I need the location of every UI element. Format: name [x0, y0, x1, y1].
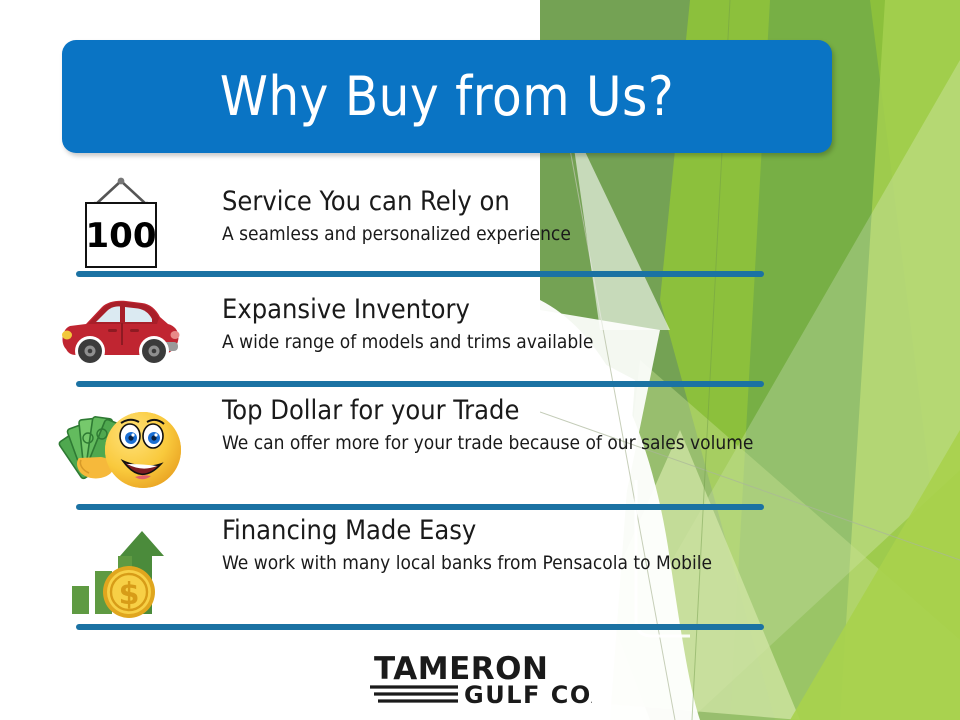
logo-secondary-text: GULF COAST — [464, 681, 592, 709]
page-title: Why Buy from Us? — [220, 65, 674, 128]
feature-subtext: We work with many local banks from Pensa… — [222, 552, 762, 574]
hanging-sign-100-icon: 100 — [46, 175, 196, 271]
feature-heading: Service You can Rely on — [222, 187, 762, 217]
growth-chart-coin-icon: $ — [46, 526, 196, 622]
red-car-icon — [46, 285, 196, 381]
row-divider — [76, 504, 764, 510]
svg-text:100: 100 — [86, 216, 157, 256]
slide-title-banner: Why Buy from Us? — [62, 40, 832, 153]
feature-heading: Financing Made Easy — [222, 516, 762, 546]
feature-subtext: We can offer more for your trade because… — [222, 432, 762, 454]
feature-subtext: A seamless and personalized experience — [222, 223, 762, 245]
row-divider — [76, 271, 764, 277]
feature-heading: Top Dollar for your Trade — [222, 396, 762, 426]
smiley-with-cash-icon — [46, 398, 196, 494]
feature-subtext: A wide range of models and trims availab… — [222, 331, 762, 353]
row-divider — [76, 381, 764, 387]
svg-text:$: $ — [119, 577, 140, 612]
tameron-gulf-coast-logo: TAMERON GULF COAST — [352, 641, 600, 720]
logo-stripes — [370, 687, 458, 701]
slide-canvas: Why Buy from Us? 100 Service You can Rel… — [0, 0, 960, 720]
row-divider — [76, 624, 764, 630]
feature-heading: Expansive Inventory — [222, 295, 762, 325]
